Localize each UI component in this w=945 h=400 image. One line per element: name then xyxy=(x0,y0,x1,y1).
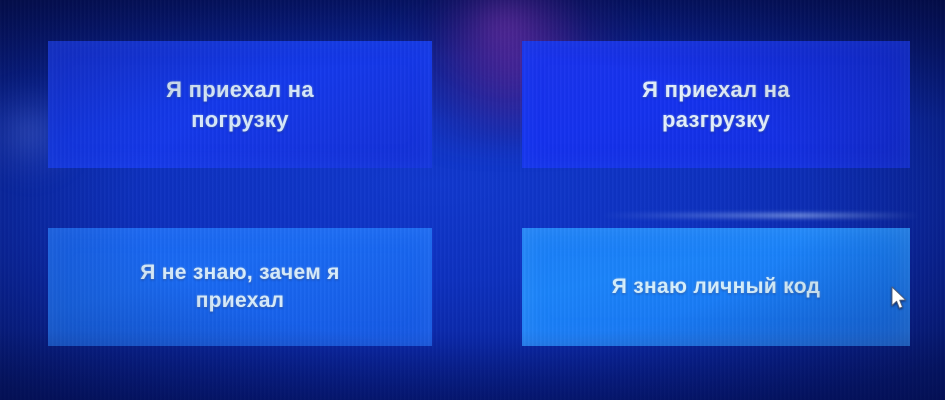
button-i-know-personal-code-label: Я знаю личный код xyxy=(612,273,821,301)
button-dont-know-why-arrived[interactable]: Я не знаю, зачем я приехал xyxy=(48,228,432,346)
button-arrived-for-loading-label: Я приехал на погрузку xyxy=(166,75,314,133)
kiosk-screen: Я приехал на погрузку Я приехал на разгр… xyxy=(0,0,945,400)
button-dont-know-why-arrived-label: Я не знаю, зачем я приехал xyxy=(140,259,339,314)
button-arrived-for-unloading-label: Я приехал на разгрузку xyxy=(642,75,790,133)
button-i-know-personal-code[interactable]: Я знаю личный код xyxy=(522,228,910,346)
button-arrived-for-loading[interactable]: Я приехал на погрузку xyxy=(48,41,432,168)
button-arrived-for-unloading[interactable]: Я приехал на разгрузку xyxy=(522,41,910,168)
screen-glare-streak xyxy=(600,213,920,218)
